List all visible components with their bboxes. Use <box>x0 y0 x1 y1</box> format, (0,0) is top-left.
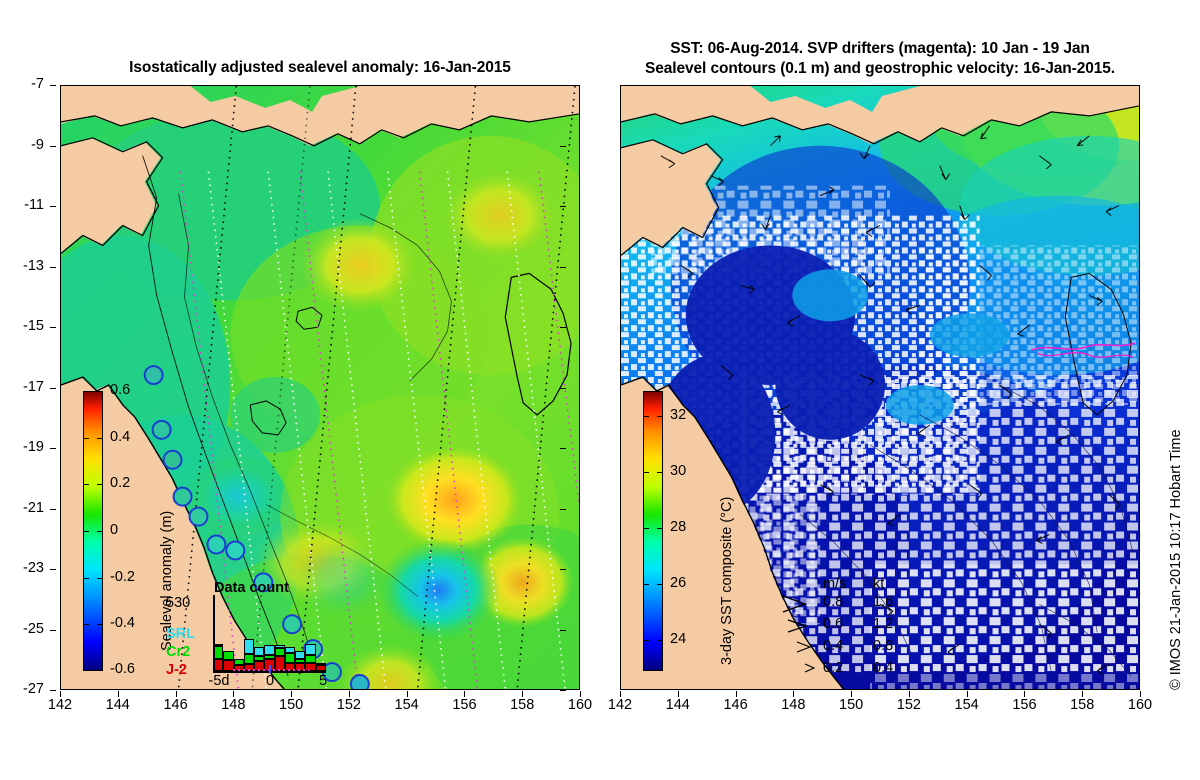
y-tick-mark <box>560 569 566 570</box>
velocity-legend-header-kt: kt <box>873 576 884 592</box>
x-tick-mark <box>967 691 968 697</box>
legend-key-cr2: Cr2 <box>166 644 190 660</box>
y-tick-mark <box>560 267 566 268</box>
data-count-bar <box>254 595 264 671</box>
y-tick-label: -11 <box>10 197 44 213</box>
x-tick-label: 156 <box>1001 697 1047 713</box>
data-count-segment-cr2 <box>254 656 264 662</box>
velocity-arrow-icon-1 <box>783 614 823 638</box>
data-count-segment-j-2 <box>223 660 233 671</box>
y-tick-label: -23 <box>10 560 44 576</box>
x-tick-label: 154 <box>944 697 990 713</box>
data-count-segment-cr2 <box>305 655 315 663</box>
x-tick-mark <box>1140 691 1141 697</box>
data-count-bar <box>316 595 326 671</box>
sealevel-anomaly-map[interactable]: 0.6 0.4 0.2 0 -0.2 -0.4 -0.6 Sealevel an… <box>60 85 580 690</box>
velocity-legend-ms-3: 0.2 <box>823 660 843 676</box>
velocity-arrow-icon-0 <box>779 592 823 616</box>
y-tick-mark <box>560 690 566 691</box>
data-count-max-label: 530 <box>166 595 190 611</box>
data-count-bars <box>213 595 326 671</box>
x-axis-left: 142144146148150152154156158160 <box>60 697 580 721</box>
data-count-segment-srl <box>285 647 295 653</box>
sst-colorbar-label: 3-day SST composite (°C) <box>719 497 735 665</box>
cbar-right-tick-2: 28 <box>670 519 686 535</box>
x-tick-label: 150 <box>828 697 874 713</box>
y-tick-label: -9 <box>10 137 44 153</box>
y-tick-mark <box>560 327 566 328</box>
x-tick-label: 148 <box>210 697 256 713</box>
y-tick-mark <box>50 206 56 207</box>
right-panel-title-line1: SST: 06-Aug-2014. SVP drifters (magenta)… <box>620 40 1140 58</box>
cbar-left-tick-3: 0 <box>110 522 118 538</box>
cbar-left-tick-1: 0.4 <box>110 429 130 445</box>
cbar-left-tick-2: 0.2 <box>110 475 130 491</box>
data-count-segment-cr2 <box>316 663 326 665</box>
inset-xtick-1: 0 <box>250 673 290 689</box>
inset-x-track-magenta <box>233 669 309 671</box>
cbar-right-tick-1: 30 <box>670 463 686 479</box>
velocity-legend: m/s kt 0.8 1.6 0.6 1.2 0.4 0.8 0.2 0.4 <box>771 576 931 686</box>
sst-velocity-map[interactable]: 32 30 28 26 24 3-day SST composite (°C) … <box>620 85 1140 690</box>
figure-canvas: Isostatically adjusted sealevel anomaly:… <box>0 0 1200 780</box>
x-tick-label: 158 <box>499 697 545 713</box>
x-tick-label: 146 <box>713 697 759 713</box>
x-tick-label: 144 <box>95 697 141 713</box>
sealevel-colorbar[interactable]: 0.6 0.4 0.2 0 -0.2 -0.4 -0.6 Sealevel an… <box>83 391 103 671</box>
y-tick-mark <box>50 509 56 510</box>
cbar-right-tick-4: 24 <box>670 631 686 647</box>
y-tick-label: -13 <box>10 258 44 274</box>
inset-xtick-2: 5 <box>303 673 343 689</box>
x-tick-mark <box>291 691 292 697</box>
x-tick-mark <box>1024 691 1025 697</box>
y-tick-mark <box>50 569 56 570</box>
velocity-legend-kt-1: 1.2 <box>873 616 893 632</box>
y-axis-left: -7-9-11-13-15-17-19-21-23-25-27 <box>0 85 56 690</box>
y-tick-mark <box>560 509 566 510</box>
x-tick-mark <box>407 691 408 697</box>
data-count-segment-cr2 <box>285 653 295 663</box>
data-count-bar <box>223 595 233 671</box>
x-tick-label: 156 <box>441 697 487 713</box>
y-tick-label: -19 <box>10 439 44 455</box>
x-tick-mark <box>620 691 621 697</box>
x-tick-mark <box>909 691 910 697</box>
y-tick-mark <box>50 146 56 147</box>
copyright-notice: © IMOS 21-Jan-2015 10:17 Hobart Time <box>1168 429 1184 690</box>
y-tick-mark <box>50 690 56 691</box>
cbar-right-tick-0: 32 <box>670 407 686 423</box>
data-count-segment-cr2 <box>275 648 285 656</box>
data-count-bar <box>213 595 223 671</box>
x-tick-mark <box>464 691 465 697</box>
y-tick-label: -17 <box>10 379 44 395</box>
inset-zero-marker <box>269 665 271 673</box>
data-count-segment-cr2 <box>295 659 305 663</box>
data-count-segment-srl <box>305 644 315 655</box>
y-tick-mark <box>50 448 56 449</box>
y-tick-mark <box>50 85 56 86</box>
legend-key-srl: SRL <box>166 626 195 642</box>
sst-colorbar[interactable]: 32 30 28 26 24 3-day SST composite (°C) <box>643 391 663 671</box>
data-count-bar <box>244 595 254 671</box>
legend-key-j2: J-2 <box>166 662 187 678</box>
y-tick-mark <box>560 388 566 389</box>
data-count-bar <box>295 595 305 671</box>
data-count-title: Data count <box>214 580 289 596</box>
data-count-segment-srl <box>264 645 274 655</box>
x-tick-mark <box>793 691 794 697</box>
x-tick-mark <box>349 691 350 697</box>
data-count-segment-srl <box>275 645 285 648</box>
inset-y-axis <box>213 595 215 671</box>
data-count-bar <box>264 595 274 671</box>
data-count-segment-cr2 <box>234 659 244 664</box>
data-count-segment-cr2 <box>244 654 254 664</box>
x-tick-mark <box>678 691 679 697</box>
inset-xtick-0: -5d <box>199 673 239 689</box>
y-tick-mark <box>560 206 566 207</box>
y-tick-mark <box>50 630 56 631</box>
cbar-left-tick-6: -0.6 <box>110 661 135 677</box>
y-tick-mark <box>560 85 566 86</box>
data-count-segment-srl <box>213 644 223 646</box>
data-count-bar <box>234 595 244 671</box>
x-tick-label: 152 <box>326 697 372 713</box>
x-tick-mark <box>736 691 737 697</box>
x-tick-mark <box>233 691 234 697</box>
y-axis-right <box>560 85 616 690</box>
y-tick-mark <box>50 327 56 328</box>
cbar-left-tick-4: -0.2 <box>110 569 135 585</box>
x-tick-mark <box>176 691 177 697</box>
x-tick-label: 144 <box>655 697 701 713</box>
velocity-legend-kt-0: 1.6 <box>873 594 893 610</box>
data-count-bar <box>285 595 295 671</box>
velocity-legend-header-ms: m/s <box>823 576 846 592</box>
y-tick-label: -7 <box>10 76 44 92</box>
y-tick-mark <box>50 388 56 389</box>
x-tick-label: 150 <box>268 697 314 713</box>
data-count-inset[interactable]: Data count 530 SRL Cr2 J-2 -5d 0 5 <box>161 581 341 690</box>
velocity-arrow-icon-2 <box>791 636 825 658</box>
y-tick-mark <box>560 146 566 147</box>
y-tick-label: -15 <box>10 318 44 334</box>
data-count-segment-cr2 <box>213 646 223 659</box>
x-tick-label: 146 <box>153 697 199 713</box>
cbar-left-tick-5: -0.4 <box>110 615 135 631</box>
left-panel-title: Isostatically adjusted sealevel anomaly:… <box>60 59 580 77</box>
x-tick-mark <box>522 691 523 697</box>
x-tick-label: 158 <box>1059 697 1105 713</box>
x-tick-label: 152 <box>886 697 932 713</box>
data-count-segment-srl <box>254 647 264 656</box>
x-tick-mark <box>580 691 581 697</box>
y-tick-mark <box>50 267 56 268</box>
data-count-segment-j-2 <box>213 659 223 671</box>
velocity-legend-kt-2: 0.8 <box>873 638 893 654</box>
x-tick-mark <box>1082 691 1083 697</box>
x-tick-label: 142 <box>597 697 643 713</box>
y-tick-label: -21 <box>10 500 44 516</box>
cbar-right-tick-3: 26 <box>670 575 686 591</box>
y-tick-label: -25 <box>10 621 44 637</box>
data-count-segment-srl <box>295 651 305 659</box>
y-tick-label: -27 <box>10 681 44 697</box>
x-tick-label: 154 <box>384 697 430 713</box>
x-tick-label: 148 <box>770 697 816 713</box>
x-axis-right: 142144146148150152154156158160 <box>620 697 1140 721</box>
sst-colorbar-gradient <box>643 391 663 671</box>
data-count-segment-srl <box>244 639 254 654</box>
velocity-legend-kt-3: 0.4 <box>873 660 893 676</box>
data-count-segment-cr2 <box>264 655 274 659</box>
y-tick-mark <box>560 630 566 631</box>
velocity-legend-ms-2: 0.4 <box>823 638 843 654</box>
data-count-segment-cr2 <box>223 651 233 660</box>
data-count-bar <box>275 595 285 671</box>
velocity-legend-ms-1: 0.6 <box>823 616 843 632</box>
x-tick-mark <box>60 691 61 697</box>
cbar-left-tick-0: 0.6 <box>110 382 130 398</box>
x-tick-label: 160 <box>1117 697 1163 713</box>
x-tick-label: 142 <box>37 697 83 713</box>
y-tick-mark <box>560 448 566 449</box>
x-tick-mark <box>851 691 852 697</box>
right-panel-title-line2: Sealevel contours (0.1 m) and geostrophi… <box>610 60 1150 78</box>
x-tick-mark <box>118 691 119 697</box>
velocity-legend-ms-0: 0.8 <box>823 594 843 610</box>
data-count-bar <box>305 595 315 671</box>
